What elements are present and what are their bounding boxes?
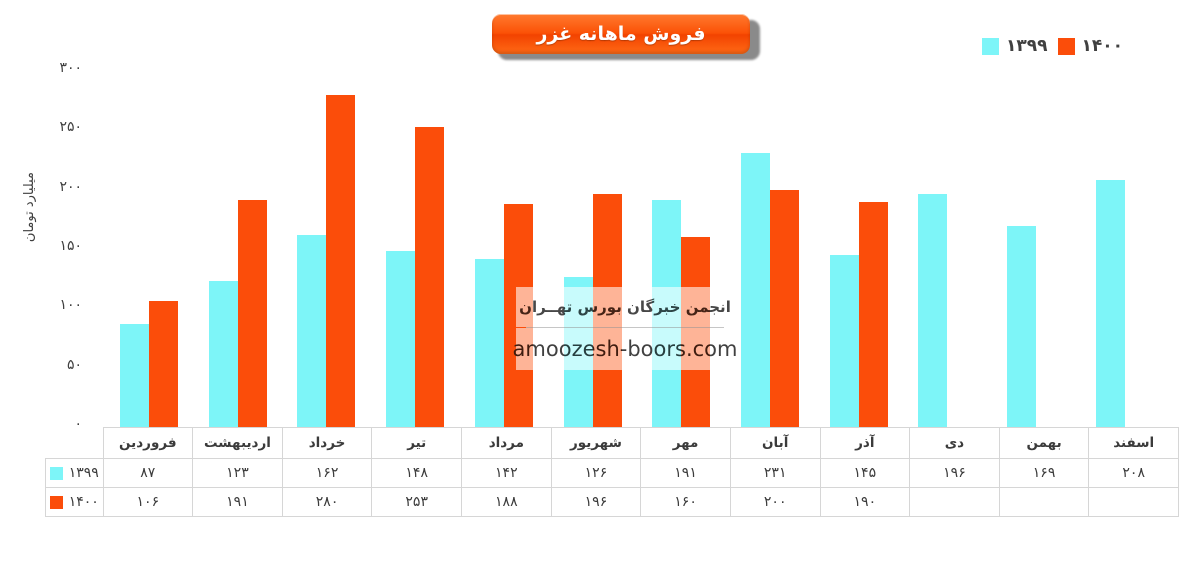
table-cell: ۸۷ xyxy=(103,459,193,488)
table-column-header: فروردین xyxy=(103,428,193,459)
bar-۱۴۰۰[interactable] xyxy=(504,204,533,427)
table-row-header: ۱۴۰۰ xyxy=(46,488,104,517)
table-column-header: شهریور xyxy=(551,428,641,459)
table-cell xyxy=(910,488,1000,517)
bar-group xyxy=(634,0,723,427)
bar-۱۴۰۰[interactable] xyxy=(593,194,622,427)
y-tick-label: ۱۰۰ xyxy=(36,297,82,313)
table-cell: ۱۴۲ xyxy=(462,459,552,488)
table-cell: ۲۵۳ xyxy=(372,488,462,517)
table-cell: ۱۸۸ xyxy=(462,488,552,517)
bar-۱۳۹۹[interactable] xyxy=(652,200,681,427)
table-column-header: آذر xyxy=(820,428,910,459)
table-column-header: آبان xyxy=(730,428,820,459)
bar-۱۳۹۹[interactable] xyxy=(209,281,238,427)
bar-۱۴۰۰[interactable] xyxy=(149,301,178,427)
bar-۱۳۹۹[interactable] xyxy=(475,259,504,428)
table-column-header: اسفند xyxy=(1089,428,1179,459)
table-cell: ۱۶۹ xyxy=(999,459,1089,488)
table-cell: ۱۹۶ xyxy=(910,459,1000,488)
table-cell: ۱۹۶ xyxy=(551,488,641,517)
bar-group xyxy=(989,0,1078,427)
bar-۱۳۹۹[interactable] xyxy=(918,194,947,427)
bar-۱۴۰۰[interactable] xyxy=(238,200,267,427)
bar-group xyxy=(812,0,901,427)
row-header-content: ۱۴۰۰ xyxy=(46,494,103,510)
plot-area: میلیارد تومان ۳۰۰۲۵۰۲۰۰۱۵۰۱۰۰۵۰۰ xyxy=(0,0,1179,430)
y-tick-label: ۲۰۰ xyxy=(36,179,82,195)
bar-۱۴۰۰[interactable] xyxy=(415,127,444,427)
bar-series-container xyxy=(102,0,1167,427)
bar-۱۳۹۹[interactable] xyxy=(1007,226,1036,427)
bar-group xyxy=(900,0,989,427)
table-column-header: اردیبهشت xyxy=(193,428,283,459)
table-corner-cell xyxy=(46,428,104,459)
y-tick-label: ۲۵۰ xyxy=(36,119,82,135)
table-cell: ۱۴۸ xyxy=(372,459,462,488)
table-cell: ۱۹۱ xyxy=(193,488,283,517)
row-header-content: ۱۳۹۹ xyxy=(46,465,103,481)
data-table: فروردیناردیبهشتخردادتیرمردادشهریورمهرآبا… xyxy=(45,427,1179,517)
table-header-row: فروردیناردیبهشتخردادتیرمردادشهریورمهرآبا… xyxy=(46,428,1179,459)
bar-۱۳۹۹[interactable] xyxy=(297,235,326,427)
table-cell: ۱۲۳ xyxy=(193,459,283,488)
bar-group xyxy=(546,0,635,427)
row-header-swatch xyxy=(50,496,63,509)
bar-group xyxy=(102,0,191,427)
table-row: ۱۴۰۰۱۰۶۱۹۱۲۸۰۲۵۳۱۸۸۱۹۶۱۶۰۲۰۰۱۹۰ xyxy=(46,488,1179,517)
bar-۱۳۹۹[interactable] xyxy=(564,277,593,427)
row-header-swatch xyxy=(50,467,63,480)
table-cell: ۱۶۰ xyxy=(641,488,731,517)
y-tick-label: ۳۰۰ xyxy=(36,60,82,76)
table-column-header: بهمن xyxy=(999,428,1089,459)
table-cell: ۲۸۰ xyxy=(282,488,372,517)
y-axis-ticks: ۳۰۰۲۵۰۲۰۰۱۵۰۱۰۰۵۰۰ xyxy=(36,0,82,430)
table-cell: ۱۴۵ xyxy=(820,459,910,488)
table-cell: ۱۹۰ xyxy=(820,488,910,517)
table-cell: ۱۰۶ xyxy=(103,488,193,517)
table-column-header: مرداد xyxy=(462,428,552,459)
bar-group xyxy=(457,0,546,427)
bar-۱۴۰۰[interactable] xyxy=(326,95,355,427)
y-tick-label: ۵۰ xyxy=(36,357,82,373)
bar-۱۴۰۰[interactable] xyxy=(681,237,710,427)
chart-page: فروش ماهانه غزر ۱۳۹۹ ۱۴۰۰ میلیارد تومان … xyxy=(0,0,1179,581)
table-cell: ۱۲۶ xyxy=(551,459,641,488)
table-row-header: ۱۳۹۹ xyxy=(46,459,104,488)
table-cell: ۱۹۱ xyxy=(641,459,731,488)
table-column-header: مهر xyxy=(641,428,731,459)
table-column-header: خرداد xyxy=(282,428,372,459)
table-cell xyxy=(1089,488,1179,517)
bar-group xyxy=(279,0,368,427)
table-column-header: دی xyxy=(910,428,1000,459)
y-tick-label: ۱۵۰ xyxy=(36,238,82,254)
bar-۱۳۹۹[interactable] xyxy=(741,153,770,427)
row-header-label: ۱۴۰۰ xyxy=(69,494,99,510)
bar-group xyxy=(723,0,812,427)
table-column-header: تیر xyxy=(372,428,462,459)
bar-group xyxy=(191,0,280,427)
table-cell: ۲۰۰ xyxy=(730,488,820,517)
table-cell: ۲۰۸ xyxy=(1089,459,1179,488)
table-cell xyxy=(999,488,1089,517)
bar-۱۴۰۰[interactable] xyxy=(770,190,799,427)
bar-۱۳۹۹[interactable] xyxy=(830,255,859,427)
bar-group xyxy=(1078,0,1167,427)
table-row: ۱۳۹۹۸۷۱۲۳۱۶۲۱۴۸۱۴۲۱۲۶۱۹۱۲۳۱۱۴۵۱۹۶۱۶۹۲۰۸ xyxy=(46,459,1179,488)
bar-۱۳۹۹[interactable] xyxy=(1096,180,1125,427)
bar-۱۴۰۰[interactable] xyxy=(859,202,888,427)
bar-۱۳۹۹[interactable] xyxy=(386,251,415,427)
table-cell: ۲۳۱ xyxy=(730,459,820,488)
table-cell: ۱۶۲ xyxy=(282,459,372,488)
bar-۱۳۹۹[interactable] xyxy=(120,324,149,427)
bar-group xyxy=(368,0,457,427)
row-header-label: ۱۳۹۹ xyxy=(69,465,99,481)
y-axis-label: میلیارد تومان xyxy=(22,172,37,196)
